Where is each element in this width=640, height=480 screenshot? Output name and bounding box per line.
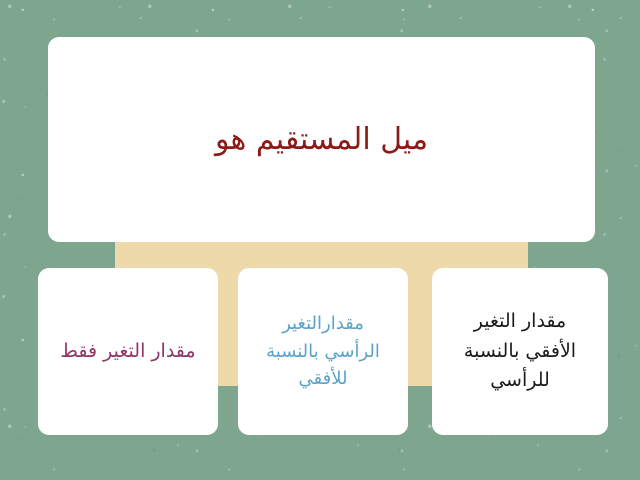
answer-option-3[interactable]: مقدار التغير الأفقي بالنسبة للرأسي (432, 268, 608, 435)
question-text: ميل المستقيم هو (48, 119, 595, 160)
question-card: ميل المستقيم هو (48, 37, 595, 242)
answer-option-3-label: مقدار التغير الأفقي بالنسبة للرأسي (432, 307, 608, 395)
quiz-slide: ميل المستقيم هو مقدار التغير فقط مقدارال… (0, 0, 640, 480)
answer-option-1[interactable]: مقدار التغير فقط (38, 268, 218, 435)
answer-option-2[interactable]: مقدارالتغير الرأسي بالنسبة للأفقي (238, 268, 408, 435)
answer-option-1-label: مقدار التغير فقط (38, 338, 218, 366)
answer-option-2-label: مقدارالتغير الرأسي بالنسبة للأفقي (238, 310, 408, 394)
